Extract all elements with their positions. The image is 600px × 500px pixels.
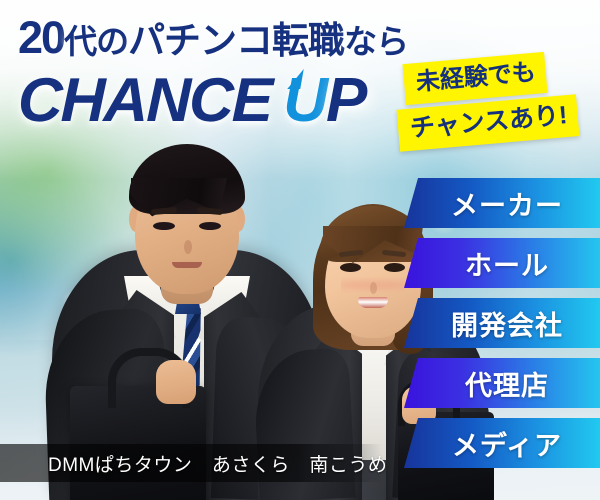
- headline-keyword: パチンコ転職: [128, 20, 344, 61]
- category-label-developer: 開発会社: [441, 304, 563, 343]
- caption-text: DMMぱちタウン あさくら 南こうめ: [0, 450, 387, 477]
- headline-block: 20代のパチンコ転職なら CHANCE UP: [0, 0, 438, 136]
- headline-nara: なら: [344, 23, 408, 60]
- headline-line-2: CHANCE UP: [18, 65, 438, 136]
- logo-word-up: UP: [283, 65, 365, 136]
- banner-advertisement[interactable]: 20代のパチンコ転職なら CHANCE UP 未経験でも チャンスあり! メーカ…: [0, 0, 600, 500]
- headline-line-1: 20代のパチンコ転職なら: [18, 14, 438, 61]
- category-button-maker[interactable]: メーカー: [404, 178, 600, 228]
- man-nose: [184, 240, 192, 254]
- man-mouth: [172, 262, 202, 268]
- headline-number: 20: [18, 12, 64, 63]
- logo-letter-p: P: [326, 66, 365, 135]
- category-button-developer[interactable]: 開発会社: [404, 298, 600, 348]
- category-label-maker: メーカー: [441, 184, 563, 223]
- woman-smiling-mouth: [358, 297, 388, 308]
- badge-line-1: 未経験でも: [402, 52, 547, 105]
- promo-badge: 未経験でも チャンスあり!: [398, 58, 594, 154]
- category-button-media[interactable]: メディア: [404, 418, 600, 468]
- woman-eye-right: [384, 263, 405, 272]
- man-hand: [156, 360, 196, 404]
- category-label-hall: ホール: [455, 244, 549, 283]
- woman-eye-left: [340, 263, 361, 272]
- headline-dai-no: 代の: [64, 23, 128, 60]
- category-button-agency[interactable]: 代理店: [404, 358, 600, 408]
- category-button-hall[interactable]: ホール: [404, 238, 600, 288]
- caption-bar: DMMぱちタウン あさくら 南こうめ: [0, 444, 382, 482]
- category-label-agency: 代理店: [455, 364, 549, 403]
- category-list: メーカー ホール 開発会社 代理店 メディア: [404, 178, 600, 478]
- category-label-media: メディア: [442, 424, 562, 463]
- man-eye-right: [199, 222, 221, 230]
- man-eye-left: [153, 222, 175, 230]
- woman-nose: [370, 282, 377, 294]
- logo-word-chance: CHANCE: [17, 65, 271, 136]
